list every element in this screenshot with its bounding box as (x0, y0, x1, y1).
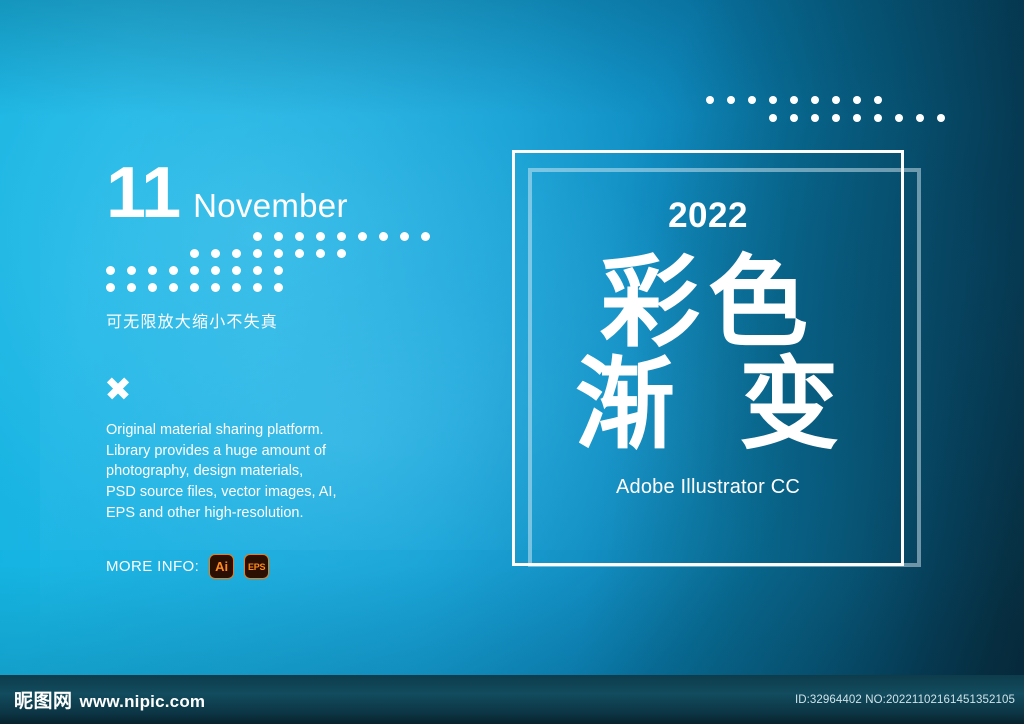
decorative-dot (421, 232, 430, 241)
decorative-dot (211, 283, 220, 292)
decorative-dot (337, 249, 346, 258)
body-line: PSD source files, vector images, AI, (106, 482, 346, 503)
body-paragraph: Original material sharing platform.Libra… (106, 420, 346, 523)
decorative-dot (316, 232, 325, 241)
decorative-dot (127, 266, 136, 275)
decorative-dot (274, 266, 283, 275)
decorative-dot (874, 114, 882, 122)
more-info-row: MORE INFO: Ai EPS (106, 554, 466, 579)
panel-title-line1: 彩色 (600, 250, 816, 356)
decorative-dot (874, 96, 882, 104)
decorative-dot (274, 232, 283, 241)
decorative-dot (358, 232, 367, 241)
decorative-dot (790, 114, 798, 122)
decorative-dot (274, 283, 283, 292)
decorative-dot (232, 283, 241, 292)
decorative-dot (769, 114, 777, 122)
decorative-dot (853, 96, 861, 104)
decorative-dot (190, 266, 199, 275)
panel-title-line2: 渐 变 (559, 352, 857, 458)
footer-brand-url: www.nipic.com (80, 692, 206, 712)
decorative-dot (400, 232, 409, 241)
decorative-dot (169, 266, 178, 275)
panel-content: 2022 彩色 渐 变 Adobe Illustrator CC (512, 150, 904, 566)
decorative-dot (379, 232, 388, 241)
poster-canvas: 11 November 可无限放大缩小不失真 Original material… (0, 0, 1024, 724)
date-number: 11 (106, 160, 180, 226)
decorative-dot (253, 232, 262, 241)
decorative-dot (211, 249, 220, 258)
badge-eps[interactable]: EPS (244, 554, 269, 579)
tagline-chinese: 可无限放大缩小不失真 (106, 308, 466, 332)
decorative-dot (769, 96, 777, 104)
decorative-dot (811, 114, 819, 122)
decorative-dot (811, 96, 819, 104)
left-content-column: 11 November 可无限放大缩小不失真 Original material… (106, 160, 466, 579)
footer-id-text: ID:32964402 NO:20221102161451352105 (795, 694, 1015, 706)
decorative-dot (295, 249, 304, 258)
decorative-dot (274, 249, 283, 258)
top-dot-grid-decoration (706, 96, 931, 130)
decorative-dot (190, 249, 199, 258)
left-dot-grid-decoration (106, 232, 376, 294)
decorative-dot (916, 114, 924, 122)
panel-app-name: Adobe Illustrator CC (616, 476, 800, 499)
decorative-dot (127, 283, 136, 292)
footer-brand[interactable]: 昵图网 www.nipic.com (14, 686, 205, 713)
body-line: Library provides a huge amount of (106, 441, 346, 462)
footer-brand-cn: 昵图网 (14, 686, 73, 713)
decorative-dot (169, 283, 178, 292)
decorative-dot (190, 283, 199, 292)
decorative-dot (748, 96, 756, 104)
decorative-dot (937, 114, 945, 122)
body-line: photography, design materials, (106, 461, 346, 482)
body-line: Original material sharing platform. (106, 420, 346, 441)
decorative-dot (706, 96, 714, 104)
decorative-dot (316, 249, 325, 258)
decorative-dot (106, 283, 115, 292)
date-heading: 11 November (106, 160, 466, 226)
decorative-dot (832, 96, 840, 104)
decorative-dot (253, 283, 262, 292)
decorative-dot (853, 114, 861, 122)
footer-bar: 昵图网 www.nipic.com ID:32964402 NO:2022110… (0, 675, 1024, 724)
decorative-dot (790, 96, 798, 104)
decorative-dot (832, 114, 840, 122)
badge-ai[interactable]: Ai (209, 554, 234, 579)
decorative-dot (148, 266, 157, 275)
panel-year: 2022 (668, 196, 748, 236)
decorative-dot (148, 283, 157, 292)
date-month: November (193, 187, 348, 225)
decorative-dot (253, 266, 262, 275)
decorative-dot (337, 232, 346, 241)
decorative-dot (211, 266, 220, 275)
decorative-dot (895, 114, 903, 122)
decorative-dot (232, 249, 241, 258)
x-cross-icon (106, 376, 130, 400)
more-info-label: MORE INFO: (106, 558, 199, 575)
decorative-dot (106, 266, 115, 275)
body-line: EPS and other high-resolution. (106, 503, 346, 524)
decorative-dot (295, 232, 304, 241)
decorative-dot (727, 96, 735, 104)
decorative-dot (232, 266, 241, 275)
decorative-dot (253, 249, 262, 258)
